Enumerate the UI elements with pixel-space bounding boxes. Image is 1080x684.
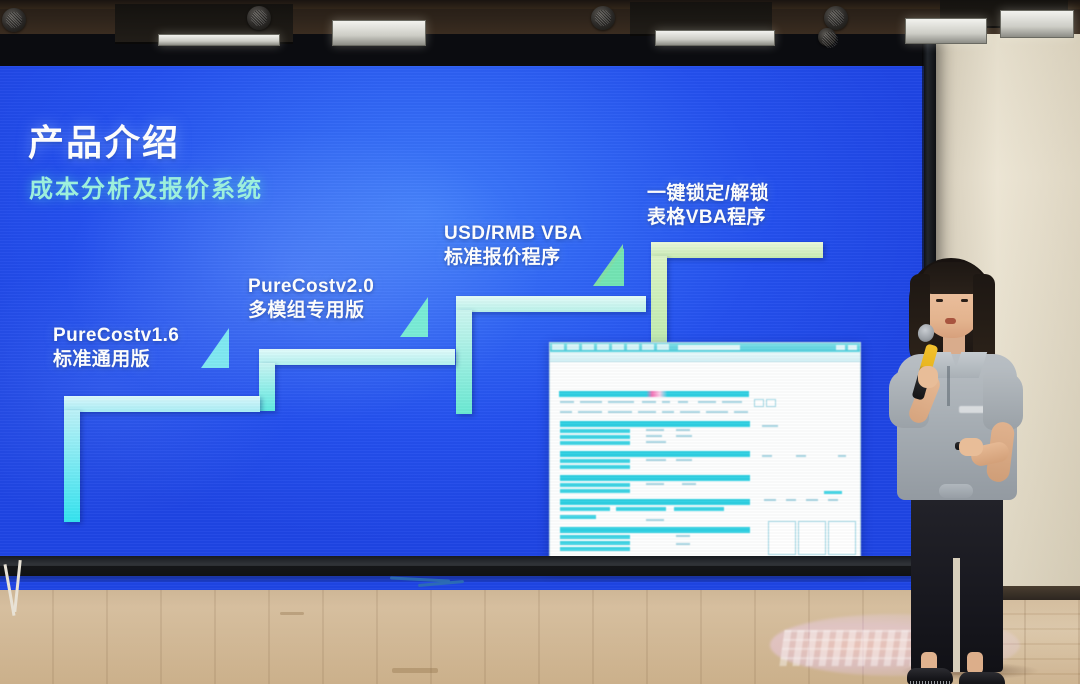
step-1-name: PureCostv1.6 [53, 324, 179, 348]
presenter-mouth [945, 318, 956, 324]
step-4-desc: 表格VBA程序 [647, 206, 769, 230]
spreadsheet-banner-row [559, 391, 749, 397]
step-3-name: USD/RMB VBA [444, 222, 582, 246]
step-3-bar [456, 296, 646, 312]
ceiling-spotlight [591, 6, 615, 30]
presenter-ankle-right [967, 652, 983, 674]
step-3-label: USD/RMB VBA 标准报价程序 [444, 222, 582, 271]
step-2-name: PureCostv2.0 [248, 275, 374, 299]
step-1-leg [64, 410, 80, 522]
led-screen-frame: 产品介绍 成本分析及报价系统 一键锁定/解锁 表格VBA程序 USD/RMB V… [0, 30, 934, 570]
step-2-arrow-icon [400, 297, 428, 337]
ceiling-spotlight [2, 8, 26, 32]
presenter-eye [961, 299, 968, 302]
presentation-photo: 产品介绍 成本分析及报价系统 一键锁定/解锁 表格VBA程序 USD/RMB V… [0, 0, 1080, 684]
ceiling-panel-light [655, 30, 775, 46]
presenter-shirt-placket [947, 366, 950, 406]
stage-floor-shadow [0, 566, 934, 582]
spreadsheet-screenshot [549, 342, 861, 569]
page-title: 产品介绍 [28, 114, 180, 166]
presenter-shoe-left [907, 668, 953, 684]
floor-marking [392, 668, 438, 673]
tripod-stand [4, 560, 34, 620]
step-2-leg [259, 363, 275, 411]
presenter-hand-right [959, 438, 983, 456]
step-1-desc: 标准通用版 [53, 348, 179, 372]
page-subtitle: 成本分析及报价系统 [29, 169, 263, 204]
presenter-leg-gap [953, 558, 960, 672]
step-3-arrow-icon [598, 248, 624, 286]
presenter-shirt-hem [939, 484, 973, 498]
step-4-bar [651, 242, 823, 258]
step-3-desc: 标准报价程序 [444, 246, 582, 270]
presenter-shoe-right [959, 672, 1005, 684]
step-2-label: PureCostv2.0 多模组专用版 [248, 275, 374, 324]
presenter-eye [936, 299, 943, 302]
ceiling-panel-light [332, 20, 426, 46]
ceiling-spotlight [247, 6, 271, 30]
led-screen: 产品介绍 成本分析及报价系统 一键锁定/解锁 表格VBA程序 USD/RMB V… [0, 66, 924, 590]
spreadsheet-tabs [552, 344, 669, 350]
ceiling-panel-light [905, 18, 987, 44]
step-4-name: 一键锁定/解锁 [647, 182, 769, 206]
spreadsheet-window-controls [836, 345, 857, 350]
spreadsheet-section-header [560, 421, 750, 427]
ceiling-spotlight [824, 6, 848, 30]
step-3-leg [456, 310, 472, 414]
ceiling-panel-light [1000, 10, 1074, 38]
step-1-label: PureCostv1.6 标准通用版 [53, 324, 179, 373]
spreadsheet-document-name [678, 345, 740, 350]
spreadsheet-title-bar [550, 343, 860, 352]
ceiling-spotlight [818, 28, 836, 46]
presenter-hand-left [918, 366, 938, 388]
step-2-bar [259, 349, 455, 365]
ceiling-panel-light [158, 34, 280, 46]
step-2-desc: 多模组专用版 [248, 299, 374, 323]
step-1-bar [64, 396, 260, 412]
floor-marking [280, 612, 304, 615]
step-4-label: 一键锁定/解锁 表格VBA程序 [647, 182, 769, 231]
presenter [885, 248, 1055, 684]
spreadsheet-ribbon [550, 352, 860, 362]
step-1-arrow-icon [201, 328, 229, 368]
